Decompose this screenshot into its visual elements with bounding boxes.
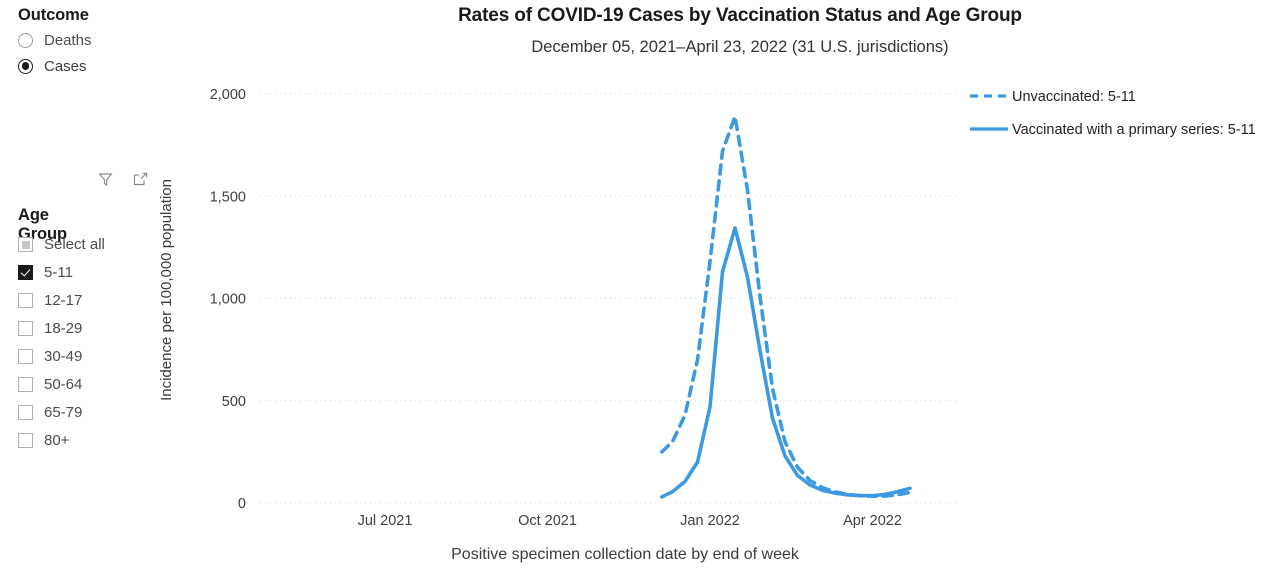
radio-option-deaths[interactable]: Deaths	[18, 29, 92, 51]
y-tick-label: 1,500	[210, 189, 246, 205]
chart-legend: Unvaccinated: 5-11Vaccinated with a prim…	[970, 89, 1256, 138]
checkbox-label-50-64: 50-64	[44, 376, 82, 393]
checkbox-indicator-30-49[interactable]	[18, 349, 33, 364]
checkbox-indicator-18-29[interactable]	[18, 321, 33, 336]
checkbox-label-18-29: 18-29	[44, 320, 82, 337]
y-axis-tick-labels: 05001,0001,5002,000	[210, 87, 246, 512]
checkbox-option-select-all[interactable]: Select all	[18, 233, 105, 256]
y-tick-label: 1,000	[210, 292, 246, 308]
series-line	[662, 117, 910, 497]
y-axis-title: Incidence per 100,000 population	[158, 160, 175, 420]
radio-option-cases[interactable]: Cases	[18, 55, 87, 77]
checkbox-option-12-17[interactable]: 12-17	[18, 289, 82, 312]
focus-mode-icon[interactable]	[131, 170, 150, 189]
checkbox-label-80plus: 80+	[44, 432, 69, 449]
checkbox-label-5-11: 5-11	[44, 264, 73, 281]
x-tick-label: Jul 2021	[358, 513, 413, 529]
radio-indicator-cases[interactable]	[18, 59, 33, 74]
outcome-heading: Outcome	[18, 6, 89, 25]
checkbox-indicator-12-17[interactable]	[18, 293, 33, 308]
radio-indicator-deaths[interactable]	[18, 33, 33, 48]
gridlines	[260, 94, 960, 503]
filter-icon[interactable]	[96, 170, 115, 189]
checkbox-label-12-17: 12-17	[44, 292, 82, 309]
line-chart-plot: 05001,0001,5002,000 Jul 2021Oct 2021Jan …	[200, 0, 1280, 573]
y-tick-label: 2,000	[210, 87, 246, 103]
radio-label-deaths: Deaths	[44, 32, 92, 49]
y-tick-label: 0	[238, 496, 246, 512]
checkbox-indicator-50-64[interactable]	[18, 377, 33, 392]
legend-label[interactable]: Unvaccinated: 5-11	[1012, 89, 1136, 105]
legend-label[interactable]: Vaccinated with a primary series: 5-11	[1012, 122, 1256, 138]
x-tick-label: Apr 2022	[843, 513, 902, 529]
x-tick-label: Jan 2022	[680, 513, 740, 529]
checkbox-option-5-11[interactable]: 5-11	[18, 261, 73, 284]
checkbox-label-65-79: 65-79	[44, 404, 82, 421]
x-tick-label: Oct 2021	[518, 513, 577, 529]
checkbox-indicator-80plus[interactable]	[18, 433, 33, 448]
checkbox-option-65-79[interactable]: 65-79	[18, 401, 82, 424]
series-line	[662, 228, 910, 497]
radio-label-cases: Cases	[44, 58, 87, 75]
checkbox-label-30-49: 30-49	[44, 348, 82, 365]
checkbox-indicator-5-11[interactable]	[18, 265, 33, 280]
panel-toolbar	[96, 170, 150, 189]
chart-region: Rates of COVID-19 Cases by Vaccination S…	[200, 0, 1280, 573]
x-axis-tick-labels: Jul 2021Oct 2021Jan 2022Apr 2022	[358, 513, 902, 529]
checkbox-indicator-65-79[interactable]	[18, 405, 33, 420]
data-series-group	[662, 117, 910, 497]
checkbox-option-80plus[interactable]: 80+	[18, 429, 69, 452]
y-tick-label: 500	[222, 394, 246, 410]
checkbox-option-18-29[interactable]: 18-29	[18, 317, 82, 340]
checkbox-option-30-49[interactable]: 30-49	[18, 345, 82, 368]
checkbox-label-select-all: Select all	[44, 236, 105, 253]
checkbox-option-50-64[interactable]: 50-64	[18, 373, 82, 396]
checkbox-indicator-select-all[interactable]	[18, 237, 33, 252]
